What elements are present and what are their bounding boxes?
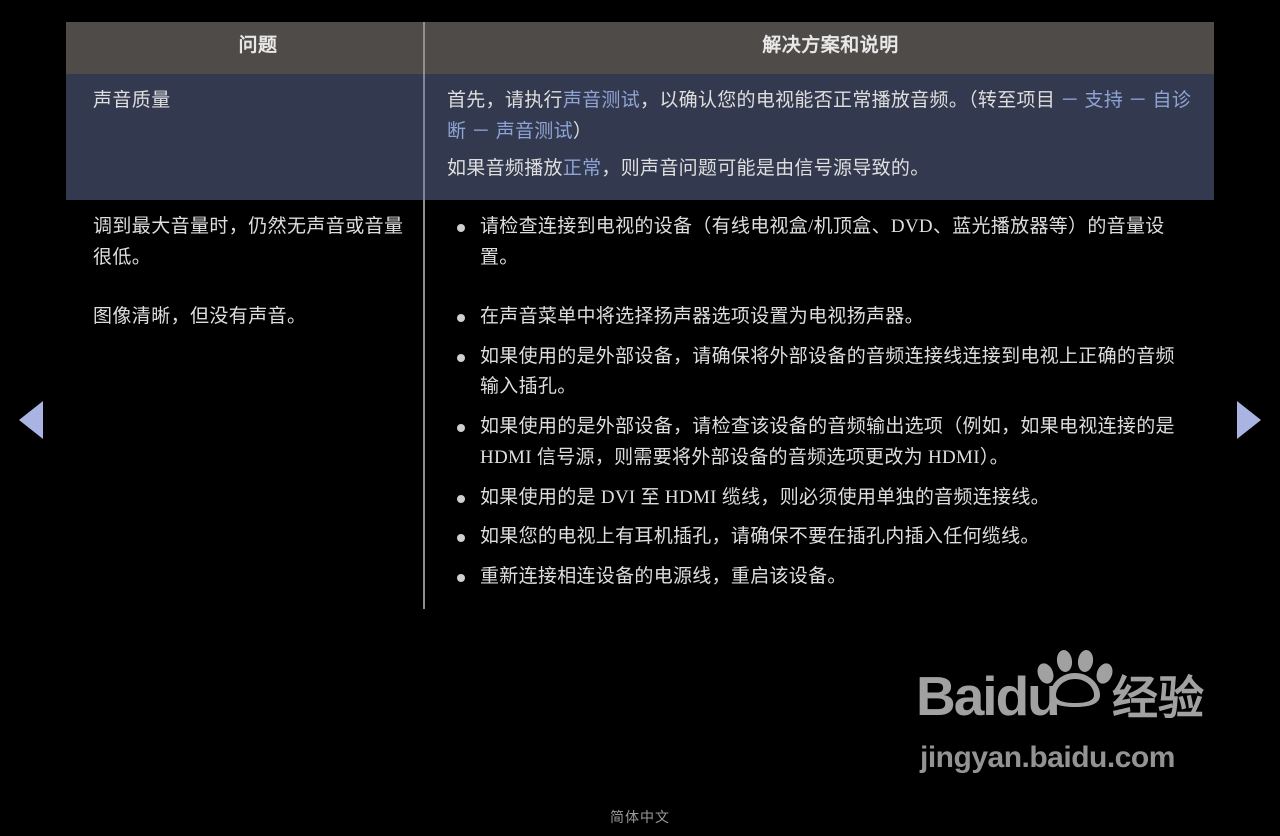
next-page-arrow-icon[interactable] (1237, 401, 1261, 439)
row-problem-cell: 调到最大音量时，仍然无声音或音量很低。 (66, 200, 424, 290)
solution-text: ，以确认您的电视能否正常播放音频。（转至 (640, 90, 1017, 111)
list-item: 如果使用的是 DVI 至 HDMI 缆线，则必须使用单独的音频连接线。 (447, 483, 1194, 514)
solution-text: ） (573, 121, 592, 142)
solution-text: 项目 (1017, 90, 1061, 111)
baidu-url: jingyan.baidu.com (920, 741, 1175, 775)
paw-print-icon (1034, 649, 1116, 711)
solution-text: 如果音频播放 (447, 158, 563, 179)
solution-paragraph: 如果音频播放正常，则声音问题可能是由信号源导致的。 (447, 154, 1194, 185)
header-label-solution: 解决方案和说明 (425, 22, 1214, 58)
problem-text: 图像清晰，但没有声音。 (66, 290, 423, 349)
list-item: 如果您的电视上有耳机插孔，请确保不要在插孔内插入任何缆线。 (447, 522, 1194, 553)
baidu-logo: Baidu 经验 (916, 655, 1216, 729)
list-item: 如果使用的是外部设备，请确保将外部设备的音频连接线连接到电视上正确的音频输入插孔… (447, 342, 1194, 404)
prev-page-arrow-icon[interactable] (19, 401, 43, 439)
row-solution-cell: 在声音菜单中将选择扬声器选项设置为电视扬声器。如果使用的是外部设备，请确保将外部… (424, 290, 1214, 609)
table-body: 声音质量首先，请执行声音测试，以确认您的电视能否正常播放音频。（转至项目 － 支… (66, 74, 1214, 609)
baidu-wordmark-cn: 经验 (1112, 675, 1204, 721)
header-cell-problem: 问题 (66, 22, 424, 74)
solution-content: 请检查连接到电视的设备（有线电视盒/机顶盒、DVD、蓝光播放器等）的音量设置。 (425, 200, 1214, 290)
troubleshooting-table: 问题 解决方案和说明 声音质量首先，请执行声音测试，以确认您的电视能否正常播放音… (66, 22, 1214, 609)
menu-path-link[interactable]: 声音测试 (563, 90, 640, 111)
list-item: 如果使用的是外部设备，请检查该设备的音频输出选项（例如，如果电视连接的是 HDM… (447, 412, 1194, 474)
solution-content: 首先，请执行声音测试，以确认您的电视能否正常播放音频。（转至项目 － 支持 － … (425, 74, 1214, 200)
problem-text: 调到最大音量时，仍然无声音或音量很低。 (66, 200, 423, 290)
baidu-jingyan-watermark: Baidu 经验 jingyan.baidu.com (916, 655, 1216, 780)
header-label-problem: 问题 (66, 22, 423, 58)
problem-text: 声音质量 (66, 74, 423, 133)
row-problem-cell: 声音质量 (66, 74, 424, 200)
troubleshooting-table-wrap: 问题 解决方案和说明 声音质量首先，请执行声音测试，以确认您的电视能否正常播放音… (66, 22, 1214, 609)
table-row: 图像清晰，但没有声音。在声音菜单中将选择扬声器选项设置为电视扬声器。如果使用的是… (66, 290, 1214, 609)
list-item: 请检查连接到电视的设备（有线电视盒/机顶盒、DVD、蓝光播放器等）的音量设置。 (447, 212, 1194, 274)
table-row: 声音质量首先，请执行声音测试，以确认您的电视能否正常播放音频。（转至项目 － 支… (66, 74, 1214, 200)
solution-text: 首先，请执行 (447, 90, 563, 111)
tv-manual-screen: 问题 解决方案和说明 声音质量首先，请执行声音测试，以确认您的电视能否正常播放音… (0, 0, 1280, 836)
list-item: 在声音菜单中将选择扬声器选项设置为电视扬声器。 (447, 302, 1194, 333)
footer-language-label: 简体中文 (0, 807, 1280, 827)
solution-text: ，则声音问题可能是由信号源导致的。 (601, 158, 929, 179)
list-item: 重新连接相连设备的电源线，重启该设备。 (447, 562, 1194, 593)
solution-content: 在声音菜单中将选择扬声器选项设置为电视扬声器。如果使用的是外部设备，请确保将外部… (425, 290, 1214, 609)
solution-bullet-list: 在声音菜单中将选择扬声器选项设置为电视扬声器。如果使用的是外部设备，请确保将外部… (447, 302, 1194, 593)
row-solution-cell: 首先，请执行声音测试，以确认您的电视能否正常播放音频。（转至项目 － 支持 － … (424, 74, 1214, 200)
solution-paragraph: 首先，请执行声音测试，以确认您的电视能否正常播放音频。（转至项目 － 支持 － … (447, 86, 1194, 148)
row-solution-cell: 请检查连接到电视的设备（有线电视盒/机顶盒、DVD、蓝光播放器等）的音量设置。 (424, 200, 1214, 290)
table-header-row: 问题 解决方案和说明 (66, 22, 1214, 74)
header-cell-solution: 解决方案和说明 (424, 22, 1214, 74)
menu-path-link[interactable]: 正常 (563, 158, 602, 179)
row-problem-cell: 图像清晰，但没有声音。 (66, 290, 424, 609)
solution-bullet-list: 请检查连接到电视的设备（有线电视盒/机顶盒、DVD、蓝光播放器等）的音量设置。 (447, 212, 1194, 274)
table-row: 调到最大音量时，仍然无声音或音量很低。请检查连接到电视的设备（有线电视盒/机顶盒… (66, 200, 1214, 290)
